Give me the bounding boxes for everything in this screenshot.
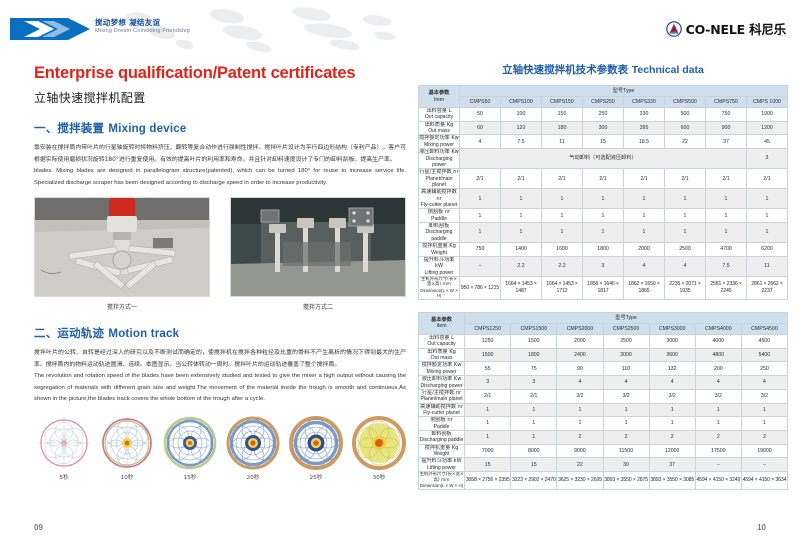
row-label-4: 行星/主搅拌数 nrPlanet/main planet: [419, 169, 460, 189]
cell-paddle-0: 1: [460, 209, 501, 223]
row-label-10: 主机外形尺寸(长×宽×高) mmDimension(L × W × H): [419, 472, 465, 490]
table-model-row: CMPS50CMPS100CMPS150CMPS250CMPS330CMPS50…: [419, 97, 788, 108]
cell-fly_cutter-1: 1: [501, 189, 542, 209]
section-1-heading-en: Mixing device: [108, 123, 186, 135]
model-header-4: CMPS330: [624, 97, 665, 108]
motion-track-diagram-icon: [99, 415, 155, 471]
cell-paddle-1: 1: [501, 209, 542, 223]
cell-planet_main-6: 2/1: [706, 169, 747, 189]
cell-dimension-7: 2861 × 2662 × 2237: [747, 276, 788, 299]
cell-fly_cutter-1: 1: [511, 403, 557, 417]
cell-mixing_power-1: 75: [511, 362, 557, 376]
brochure-page: 搅动梦想 凝结友谊 Mixing Dream Coinciding Friend…: [0, 0, 800, 542]
section-1-heading: 一、搅拌装置 Mixing device: [34, 120, 406, 136]
cell-dimension-1: 1664 × 1453 × 1487: [501, 276, 542, 299]
mixer-arms-photo: [230, 197, 406, 297]
cell-out_mass-4: 3600: [649, 348, 695, 362]
cell-dimension-3: 1856 × 1646 × 1817: [583, 276, 624, 299]
table-row: 高速辅助搅拌数 nrFly-cutter planet11111111: [419, 189, 788, 209]
photo-item-1: 搅拌方式一: [34, 197, 210, 311]
cell-out_capacity-4: 330: [624, 108, 665, 122]
cell-out_capacity-6: 4500: [741, 334, 787, 348]
cell-paddle-3: 1: [583, 209, 624, 223]
section-2-paragraph-cn: 搅拌叶片的公转、自转是经过深入的研究以及不断测试而确定的，使搅拌机在搅拌各种粒径…: [34, 348, 406, 371]
motion-track-diagram-icon: [351, 415, 407, 471]
cell-discharging_paddle-6: 2: [741, 431, 787, 445]
cell-paddle-6: 1: [706, 209, 747, 223]
row-label-9: 提升料斗功率 kWLifting power: [419, 256, 460, 276]
page-title-en: Enterprise qualification/Patent certific…: [34, 64, 406, 83]
cell-out_mass-2: 2400: [557, 348, 603, 362]
section-2-paragraph-en: The revolution and rotation speed of the…: [34, 371, 406, 406]
cell-weight-1: 1400: [501, 243, 542, 257]
cell-paddle-0: 1: [465, 417, 511, 431]
cell-fly_cutter-7: 1: [747, 189, 788, 209]
model-header-5: CMPS4000: [695, 323, 741, 334]
table-row: 出料质量 KgOut mass601201803003956009001200: [419, 121, 788, 135]
cell-out_capacity-3: 2500: [603, 334, 649, 348]
section-1-paragraph-en: blades. Mixing blades are designed in pa…: [34, 166, 406, 189]
cell-lifting_power-4: 4: [624, 256, 665, 276]
slogan-en: Mixing Dream Coinciding Friendship: [95, 28, 190, 34]
cell-weight-2: 9000: [557, 444, 603, 458]
motion-track-diagram-icon: [288, 415, 344, 471]
table-row: 卸料刮板Discharging paddle11111111: [419, 223, 788, 243]
table-row: 出料容量 LOut capacity5010015025033050075010…: [419, 108, 788, 122]
cell-discharging-power-0: 3: [465, 376, 511, 390]
cell-fly_cutter-0: 1: [460, 189, 501, 209]
cell-discharging_paddle-5: 1: [665, 223, 706, 243]
cell-discharging_paddle-3: 2: [603, 431, 649, 445]
cell-out_capacity-2: 2000: [557, 334, 603, 348]
track-caption-1: 5秒: [36, 473, 92, 481]
cell-dimension-5: 2235 × 2071 × 1935: [665, 276, 706, 299]
cell-weight-2: 1600: [542, 243, 583, 257]
cell-out_mass-3: 3000: [603, 348, 649, 362]
cell-dimension-2: 3625 × 3230 × 2695: [557, 472, 603, 490]
cell-out_capacity-3: 250: [583, 108, 624, 122]
cell-paddle-5: 1: [665, 209, 706, 223]
cell-planet_main-4: 2/1: [624, 169, 665, 189]
model-header-3: CMPS250: [583, 97, 624, 108]
row-label-4: 行星/主搅拌数 nrPlanet/main planet: [419, 389, 465, 403]
cell-fly_cutter-6: 1: [706, 189, 747, 209]
cell-lifting_power-4: 37: [649, 458, 695, 472]
model-header-1: CMPS100: [501, 97, 542, 108]
discharging-power-last: 3: [747, 149, 788, 169]
cell-fly_cutter-2: 1: [542, 189, 583, 209]
cell-fly_cutter-4: 1: [649, 403, 695, 417]
table-row: 侧刮板 nrPaddle1111111: [419, 417, 788, 431]
page-title-cn: 立轴快速搅拌机配置: [34, 89, 406, 106]
row-label-0: 出料容量 LOut capacity: [419, 334, 465, 348]
cell-dimension-6: 4594 × 4150 × 3634: [741, 472, 787, 490]
cell-mixing_power-0: 4: [460, 135, 501, 149]
cell-paddle-4: 1: [649, 417, 695, 431]
cell-out_mass-2: 180: [542, 121, 583, 135]
cell-out_mass-6: 5400: [741, 348, 787, 362]
cell-mixing_power-1: 7.5: [501, 135, 542, 149]
table-row: 搅拌机重量 KgWeight75014001600180020002500470…: [419, 243, 788, 257]
cell-fly_cutter-3: 1: [583, 189, 624, 209]
model-header-2: CMPS2000: [557, 323, 603, 334]
cell-out_mass-0: 1500: [465, 348, 511, 362]
cell-mixing_power-7: 45: [747, 135, 788, 149]
cell-out_mass-3: 300: [583, 121, 624, 135]
cell-discharging-power-1: 3: [511, 376, 557, 390]
table-row: 提升料斗功率 kWLifting power1515223037––: [419, 458, 788, 472]
cell-discharging-power-2: 4: [557, 376, 603, 390]
cell-mixing_power-2: 11: [542, 135, 583, 149]
cell-lifting_power-5: 4: [665, 256, 706, 276]
row-label-6: 侧刮板 nrPaddle: [419, 417, 465, 431]
cell-weight-3: 1800: [583, 243, 624, 257]
table-row: 出料容量 LOut capacity1250150020002500300040…: [419, 334, 788, 348]
track-item-3: 15秒: [162, 415, 218, 481]
section-2-heading: 二、运动轨迹 Motion track: [34, 325, 406, 341]
cell-paddle-7: 1: [747, 209, 788, 223]
table-row: 主机外形尺寸(长×宽×高) mmDimension(L × W × H)950 …: [419, 276, 788, 299]
row-label-7: 卸料刮板Discharging paddle: [419, 431, 465, 445]
co-nele-mark-icon: [666, 21, 682, 37]
cell-out_mass-6: 900: [706, 121, 747, 135]
cell-lifting_power-1: 15: [511, 458, 557, 472]
section-1-paragraph-cn: 靠安装在搅拌筒内带叶片的行星轴旋转时将物料挤压、翻转等复合动作进行强制性搅拌。搅…: [34, 143, 406, 166]
cell-out_mass-1: 120: [501, 121, 542, 135]
track-item-5: 25秒: [288, 415, 344, 481]
cell-planet_main-1: 2/1: [501, 169, 542, 189]
section-2-heading-cn: 二、运动轨迹: [34, 326, 104, 340]
cell-discharging-power-5: 4: [695, 376, 741, 390]
model-header-1: CMPS1500: [511, 323, 557, 334]
cell-mixing_power-6: 250: [741, 362, 787, 376]
cell-discharging_paddle-6: 1: [706, 223, 747, 243]
header-type-cell: 型号Type: [460, 86, 788, 97]
cell-discharging_paddle-2: 1: [542, 223, 583, 243]
cell-discharging_paddle-1: 1: [511, 431, 557, 445]
table-header-row: 基本参数Item型号Type: [419, 86, 788, 97]
cell-lifting_power-1: 2.2: [501, 256, 542, 276]
cell-mixing_power-2: 90: [557, 362, 603, 376]
model-header-2: CMPS150: [542, 97, 583, 108]
technical-data-title-cn: 立轴快速搅拌机技术参数表: [502, 64, 628, 76]
technical-data-title-en: Technical data: [632, 64, 704, 76]
cell-paddle-3: 1: [603, 417, 649, 431]
model-header-7: CMPS 1000: [747, 97, 788, 108]
cell-planet_main-0: 2/1: [465, 389, 511, 403]
track-item-6: 30秒: [351, 415, 407, 481]
cell-mixing_power-6: 37: [706, 135, 747, 149]
cell-mixing_power-5: 22: [665, 135, 706, 149]
company-slogan: 搅动梦想 凝结友谊 Mixing Dream Coinciding Friend…: [95, 19, 190, 34]
photo-item-2: 搅拌方式二: [230, 197, 406, 311]
cell-out_capacity-1: 100: [501, 108, 542, 122]
cell-out_mass-0: 60: [460, 121, 501, 135]
cell-dimension-4: 1862 × 1650 × 1865: [624, 276, 665, 299]
row-label-8: 搅拌机重量 KgWeight: [419, 243, 460, 257]
table-model-row: CMPS1250CMPS1500CMPS2000CMPS2500CMPS3000…: [419, 323, 788, 334]
cell-lifting_power-2: 2.2: [542, 256, 583, 276]
cell-lifting_power-5: –: [695, 458, 741, 472]
row-label-5: 高速辅助搅拌数 nrFly-cutter planet: [419, 403, 465, 417]
row-label-2: 搅拌额定功率 KwMixing power: [419, 135, 460, 149]
cell-mixing_power-4: 132: [649, 362, 695, 376]
right-column: 立轴快速搅拌机技术参数表 Technical data 基本参数Item型号Ty…: [418, 62, 788, 490]
cell-out_mass-5: 600: [665, 121, 706, 135]
cell-planet_main-3: 3/2: [603, 389, 649, 403]
table-header-row: 基本参数Item型号Type: [419, 312, 788, 323]
cell-discharging_paddle-0: 1: [460, 223, 501, 243]
table-row: 主机外形尺寸(长×宽×高) mmDimension(L × W × H)3058…: [419, 472, 788, 490]
cell-weight-4: 12000: [649, 444, 695, 458]
cell-dimension-5: 4594 × 4150 × 3249: [695, 472, 741, 490]
cell-paddle-4: 1: [624, 209, 665, 223]
cell-dimension-3: 3893 × 3550 × 2875: [603, 472, 649, 490]
cell-planet_main-2: 2/1: [542, 169, 583, 189]
cell-paddle-2: 1: [542, 209, 583, 223]
cell-mixing_power-5: 200: [695, 362, 741, 376]
cell-out_mass-7: 1200: [747, 121, 788, 135]
model-header-5: CMPS500: [665, 97, 706, 108]
left-column: Enterprise qualification/Patent certific…: [34, 64, 406, 481]
cell-weight-3: 11500: [603, 444, 649, 458]
cell-planet_main-5: 3/2: [695, 389, 741, 403]
section-1-heading-cn: 一、搅拌装置: [34, 121, 104, 135]
table-row: 搅拌额定功率 KwMixing power47.5111518.5223745: [419, 135, 788, 149]
row-label-3: 液压卸料功率 KwDischarging power: [419, 149, 460, 169]
page-number-right: 10: [757, 523, 766, 532]
row-label-6: 侧刮板 nrPaddle: [419, 209, 460, 223]
cell-fly_cutter-2: 1: [557, 403, 603, 417]
cell-out_capacity-5: 4000: [695, 334, 741, 348]
spec-table-2: 基本参数Item型号TypeCMPS1250CMPS1500CMPS2000CM…: [418, 312, 788, 490]
cell-planet_main-4: 3/2: [649, 389, 695, 403]
cell-dimension-0: 3058 × 2756 × 2395: [465, 472, 511, 490]
row-label-0: 出料容量 LOut capacity: [419, 108, 460, 122]
cell-discharging-power-4: 4: [649, 376, 695, 390]
track-item-4: 20秒: [225, 415, 281, 481]
cell-weight-1: 8000: [511, 444, 557, 458]
cell-planet_main-3: 2/1: [583, 169, 624, 189]
discharging-power-note: 气动卸料（可选配液压卸料）: [460, 149, 747, 169]
cell-out_capacity-2: 150: [542, 108, 583, 122]
cell-paddle-2: 1: [557, 417, 603, 431]
row-label-7: 卸料刮板Discharging paddle: [419, 223, 460, 243]
track-caption-3: 15秒: [162, 473, 218, 481]
cell-lifting_power-3: 30: [603, 458, 649, 472]
cell-weight-5: 2500: [665, 243, 706, 257]
cell-planet_main-5: 2/1: [665, 169, 706, 189]
cell-paddle-6: 1: [741, 417, 787, 431]
cell-weight-0: 750: [460, 243, 501, 257]
cell-discharging_paddle-4: 1: [624, 223, 665, 243]
cell-lifting_power-0: 15: [465, 458, 511, 472]
spec-table-1: 基本参数Item型号TypeCMPS50CMPS100CMPS150CMPS25…: [418, 85, 788, 300]
cell-out_capacity-5: 500: [665, 108, 706, 122]
track-caption-2: 10秒: [99, 473, 155, 481]
cell-lifting_power-2: 22: [557, 458, 603, 472]
slogan-cn: 搅动梦想 凝结友谊: [95, 19, 190, 27]
track-caption-4: 20秒: [225, 473, 281, 481]
cell-discharging_paddle-3: 1: [583, 223, 624, 243]
model-header-6: CMPS4500: [741, 323, 787, 334]
cell-fly_cutter-3: 1: [603, 403, 649, 417]
cell-weight-7: 6200: [747, 243, 788, 257]
cell-lifting_power-6: –: [741, 458, 787, 472]
cell-discharging-power-3: 4: [603, 376, 649, 390]
table-row: 行星/主搅拌数 nrPlanet/main planet2/12/13/23/2…: [419, 389, 788, 403]
photo-caption-1: 搅拌方式一: [34, 302, 210, 311]
cell-out_mass-4: 395: [624, 121, 665, 135]
header-type-cell: 型号Type: [465, 312, 788, 323]
row-label-10: 主机外形尺寸(长×宽×高) mmDimension(L × W × H): [419, 276, 460, 299]
table-row: 高速辅助搅拌数 nrFly-cutter planet1111111: [419, 403, 788, 417]
cell-lifting_power-6: 7.5: [706, 256, 747, 276]
cell-discharging_paddle-7: 1: [747, 223, 788, 243]
cell-out_capacity-6: 750: [706, 108, 747, 122]
model-header-6: CMPS750: [706, 97, 747, 108]
photo-caption-2: 搅拌方式二: [230, 302, 406, 311]
track-item-1: 5秒: [36, 415, 92, 481]
cell-fly_cutter-0: 1: [465, 403, 511, 417]
row-label-3: 液压卸料功率 KwDischarging power: [419, 376, 465, 390]
motion-track-diagram-icon: [225, 415, 281, 471]
row-label-2: 搅拌额定功率 KwMixing power: [419, 362, 465, 376]
cell-weight-0: 7000: [465, 444, 511, 458]
track-caption-6: 30秒: [351, 473, 407, 481]
cell-weight-6: 4700: [706, 243, 747, 257]
cell-discharging-power-6: 4: [741, 376, 787, 390]
model-header-3: CMPS2500: [603, 323, 649, 334]
model-header-0: CMPS50: [460, 97, 501, 108]
cell-weight-6: 19000: [741, 444, 787, 458]
row-label-1: 出料质量 KgOut mass: [419, 348, 465, 362]
cell-planet_main-1: 2/1: [511, 389, 557, 403]
cell-paddle-1: 1: [511, 417, 557, 431]
brand-lockup: CO-NELE 科尼乐: [666, 19, 786, 38]
cell-discharging_paddle-2: 2: [557, 431, 603, 445]
header-item-cell: 基本参数Item: [419, 86, 460, 108]
table-row: 提升料斗功率 kWLifting power–2.22.23447.511: [419, 256, 788, 276]
cell-paddle-5: 1: [695, 417, 741, 431]
cell-lifting_power-3: 3: [583, 256, 624, 276]
cell-dimension-0: 950 × 786 × 1215: [460, 276, 501, 299]
cell-fly_cutter-5: 1: [665, 189, 706, 209]
section-2-heading-en: Motion track: [108, 328, 179, 340]
page-number-left: 09: [34, 523, 43, 532]
technical-data-title: 立轴快速搅拌机技术参数表 Technical data: [418, 62, 788, 77]
motion-track-diagram-icon: [162, 415, 218, 471]
cell-dimension-1: 3223 × 2902 × 2470: [511, 472, 557, 490]
row-label-5: 高速辅助搅拌数 nrFly-cutter planet: [419, 189, 460, 209]
cell-dimension-6: 2561 × 2336 × 2245: [706, 276, 747, 299]
cell-planet_main-0: 2/1: [460, 169, 501, 189]
cell-weight-4: 2000: [624, 243, 665, 257]
table-row: 出料质量 KgOut mass1500180024003000360048005…: [419, 348, 788, 362]
model-header-4: CMPS3000: [649, 323, 695, 334]
cell-fly_cutter-5: 1: [695, 403, 741, 417]
cell-out_capacity-4: 3000: [649, 334, 695, 348]
cell-mixing_power-0: 55: [465, 362, 511, 376]
table-row: 搅拌机重量 KgWeight70008000900011500120001750…: [419, 444, 788, 458]
table-row: 搅拌额定功率 KwMixing power557590110132200250: [419, 362, 788, 376]
mixer-blade-photo: [34, 197, 210, 297]
row-label-9: 提升料斗功率 kWLifting power: [419, 458, 465, 472]
cell-out_mass-1: 1800: [511, 348, 557, 362]
page-header: 搅动梦想 凝结友谊 Mixing Dream Coinciding Friend…: [0, 0, 800, 56]
cell-out_capacity-7: 1000: [747, 108, 788, 122]
cell-fly_cutter-6: 1: [741, 403, 787, 417]
cell-fly_cutter-4: 1: [624, 189, 665, 209]
cell-planet_main-2: 3/2: [557, 389, 603, 403]
cell-mixing_power-4: 18.5: [624, 135, 665, 149]
cell-discharging_paddle-0: 1: [465, 431, 511, 445]
cell-dimension-2: 1664 × 1453 × 1712: [542, 276, 583, 299]
cell-planet_main-6: 3/2: [741, 389, 787, 403]
chevron-logo-icon: [10, 18, 90, 40]
cell-mixing_power-3: 15: [583, 135, 624, 149]
cell-weight-5: 17500: [695, 444, 741, 458]
cell-mixing_power-3: 110: [603, 362, 649, 376]
track-item-2: 10秒: [99, 415, 155, 481]
cell-out_capacity-1: 1500: [511, 334, 557, 348]
row-label-1: 出料质量 KgOut mass: [419, 121, 460, 135]
row-label-8: 搅拌机重量 KgWeight: [419, 444, 465, 458]
brand-name: CO-NELE 科尼乐: [686, 19, 786, 38]
motion-track-diagram-icon: [36, 415, 92, 471]
photo-row: 搅拌方式一: [34, 197, 406, 311]
table-row: 液压卸料功率 KwDischarging power气动卸料（可选配液压卸料）3: [419, 149, 788, 169]
cell-discharging_paddle-4: 2: [649, 431, 695, 445]
table-row: 液压卸料功率 KwDischarging power3344444: [419, 376, 788, 390]
cell-lifting_power-7: 11: [747, 256, 788, 276]
motion-track-row: 5秒 10秒: [34, 415, 406, 481]
table-row: 行星/主搅拌数 nrPlanet/main planet2/12/12/12/1…: [419, 169, 788, 189]
model-header-0: CMPS1250: [465, 323, 511, 334]
cell-planet_main-7: 2/1: [747, 169, 788, 189]
cell-dimension-4: 3893 × 3550 × 3085: [649, 472, 695, 490]
cell-discharging_paddle-1: 1: [501, 223, 542, 243]
header-item-cell: 基本参数Item: [419, 312, 465, 334]
table-row: 卸料刮板Discharging paddle1122222: [419, 431, 788, 445]
cell-lifting_power-0: –: [460, 256, 501, 276]
track-caption-5: 25秒: [288, 473, 344, 481]
table-row: 侧刮板 nrPaddle11111111: [419, 209, 788, 223]
cell-out_mass-5: 4800: [695, 348, 741, 362]
cell-discharging_paddle-5: 2: [695, 431, 741, 445]
cell-out_capacity-0: 50: [460, 108, 501, 122]
cell-out_capacity-0: 1250: [465, 334, 511, 348]
